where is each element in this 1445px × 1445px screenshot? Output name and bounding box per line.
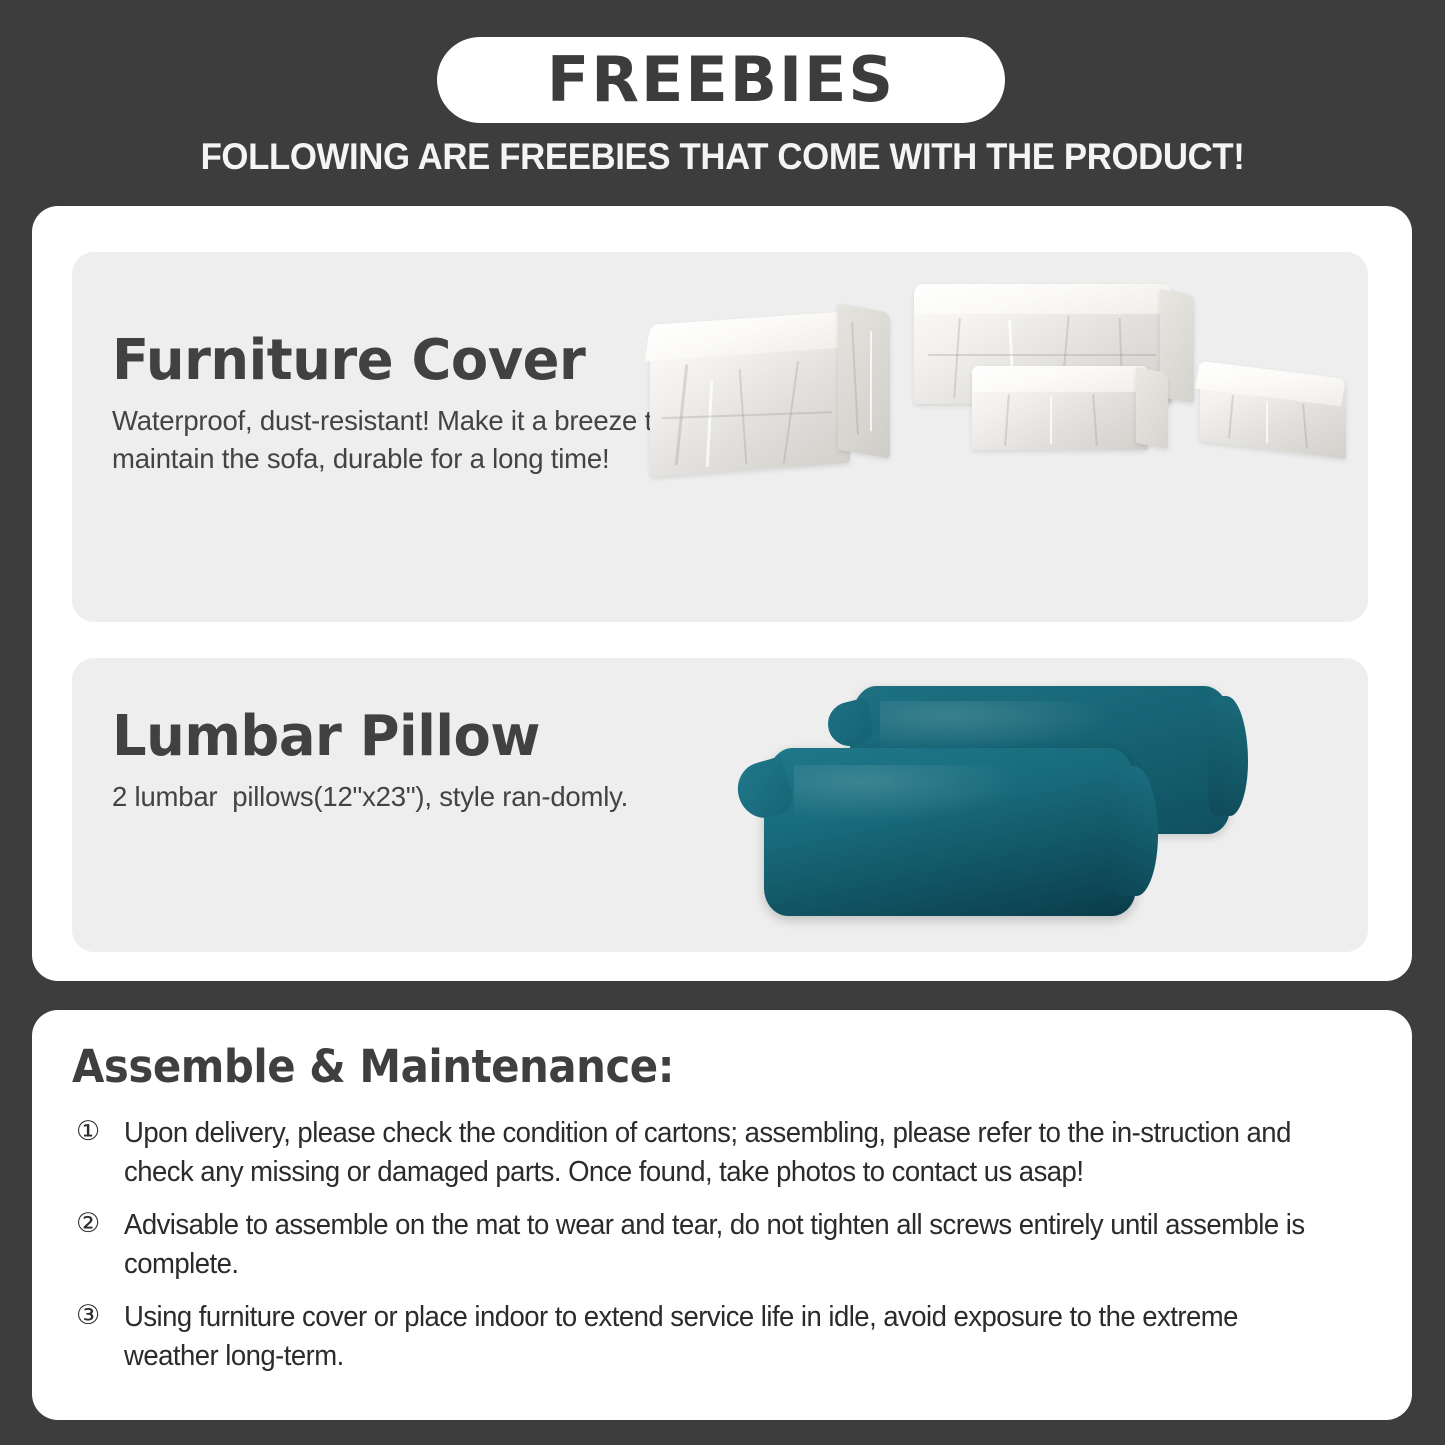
furniture-covers-image <box>642 270 1362 520</box>
furniture-cover-text-block: Furniture Cover Waterproof, dust-resista… <box>112 332 672 478</box>
list-text-2: Advisable to assemble on the mat to wear… <box>124 1206 1328 1284</box>
cover-bench <box>1200 361 1346 459</box>
freebies-card: Furniture Cover Waterproof, dust-resista… <box>32 206 1412 981</box>
list-text-1: Upon delivery, please check the conditio… <box>124 1114 1328 1192</box>
list-number-2: ② <box>72 1206 124 1243</box>
freebies-title-pill: FREEBIES <box>437 37 1005 123</box>
furniture-cover-description: Waterproof, dust-resistant! Make it a br… <box>112 402 672 478</box>
pillow-front-corner-left <box>731 756 796 824</box>
page-subtitle: FOLLOWING ARE FREEBIES THAT COME WITH TH… <box>43 136 1401 178</box>
lumbar-pillow-text-block: Lumbar Pillow 2 lumbar pillows(12"x23"),… <box>112 708 672 816</box>
cover-ottoman <box>972 366 1148 450</box>
furniture-cover-title: Furniture Cover <box>112 332 655 390</box>
maintenance-item: ① Upon delivery, please check the condit… <box>72 1114 1372 1192</box>
pillow-front-highlight <box>794 765 1025 822</box>
maintenance-title: Assemble & Maintenance: <box>72 1040 674 1093</box>
maintenance-list: ① Upon delivery, please check the condit… <box>72 1114 1372 1390</box>
pillow-front <box>764 748 1136 916</box>
lumbar-pillow-description: 2 lumbar pillows(12"x23"), style ran-dom… <box>112 778 672 816</box>
cover-armchair-side <box>838 303 890 458</box>
list-number-3: ③ <box>72 1298 124 1335</box>
cover-ottoman-side <box>1136 367 1168 449</box>
pillow-back-corner-left <box>823 697 876 750</box>
lumbar-pillows-image <box>662 676 1302 938</box>
maintenance-card: Assemble & Maintenance: ① Upon delivery,… <box>32 1010 1412 1420</box>
list-text-3: Using furniture cover or place indoor to… <box>124 1298 1328 1376</box>
page-header: FREEBIES FOLLOWING ARE FREEBIES THAT COM… <box>0 0 1445 196</box>
pillow-back-highlight <box>880 701 1116 751</box>
page-title: FREEBIES <box>547 49 895 111</box>
cover-armchair <box>650 311 850 477</box>
pillow-back-corner-right <box>1208 696 1248 816</box>
list-number-1: ① <box>72 1114 124 1151</box>
maintenance-item: ② Advisable to assemble on the mat to we… <box>72 1206 1372 1284</box>
freebie-panel-furniture-cover: Furniture Cover Waterproof, dust-resista… <box>72 252 1368 622</box>
freebie-panel-lumbar-pillow: Lumbar Pillow 2 lumbar pillows(12"x23"),… <box>72 658 1368 952</box>
maintenance-item: ③ Using furniture cover or place indoor … <box>72 1298 1372 1376</box>
lumbar-pillow-title: Lumbar Pillow <box>112 708 655 766</box>
